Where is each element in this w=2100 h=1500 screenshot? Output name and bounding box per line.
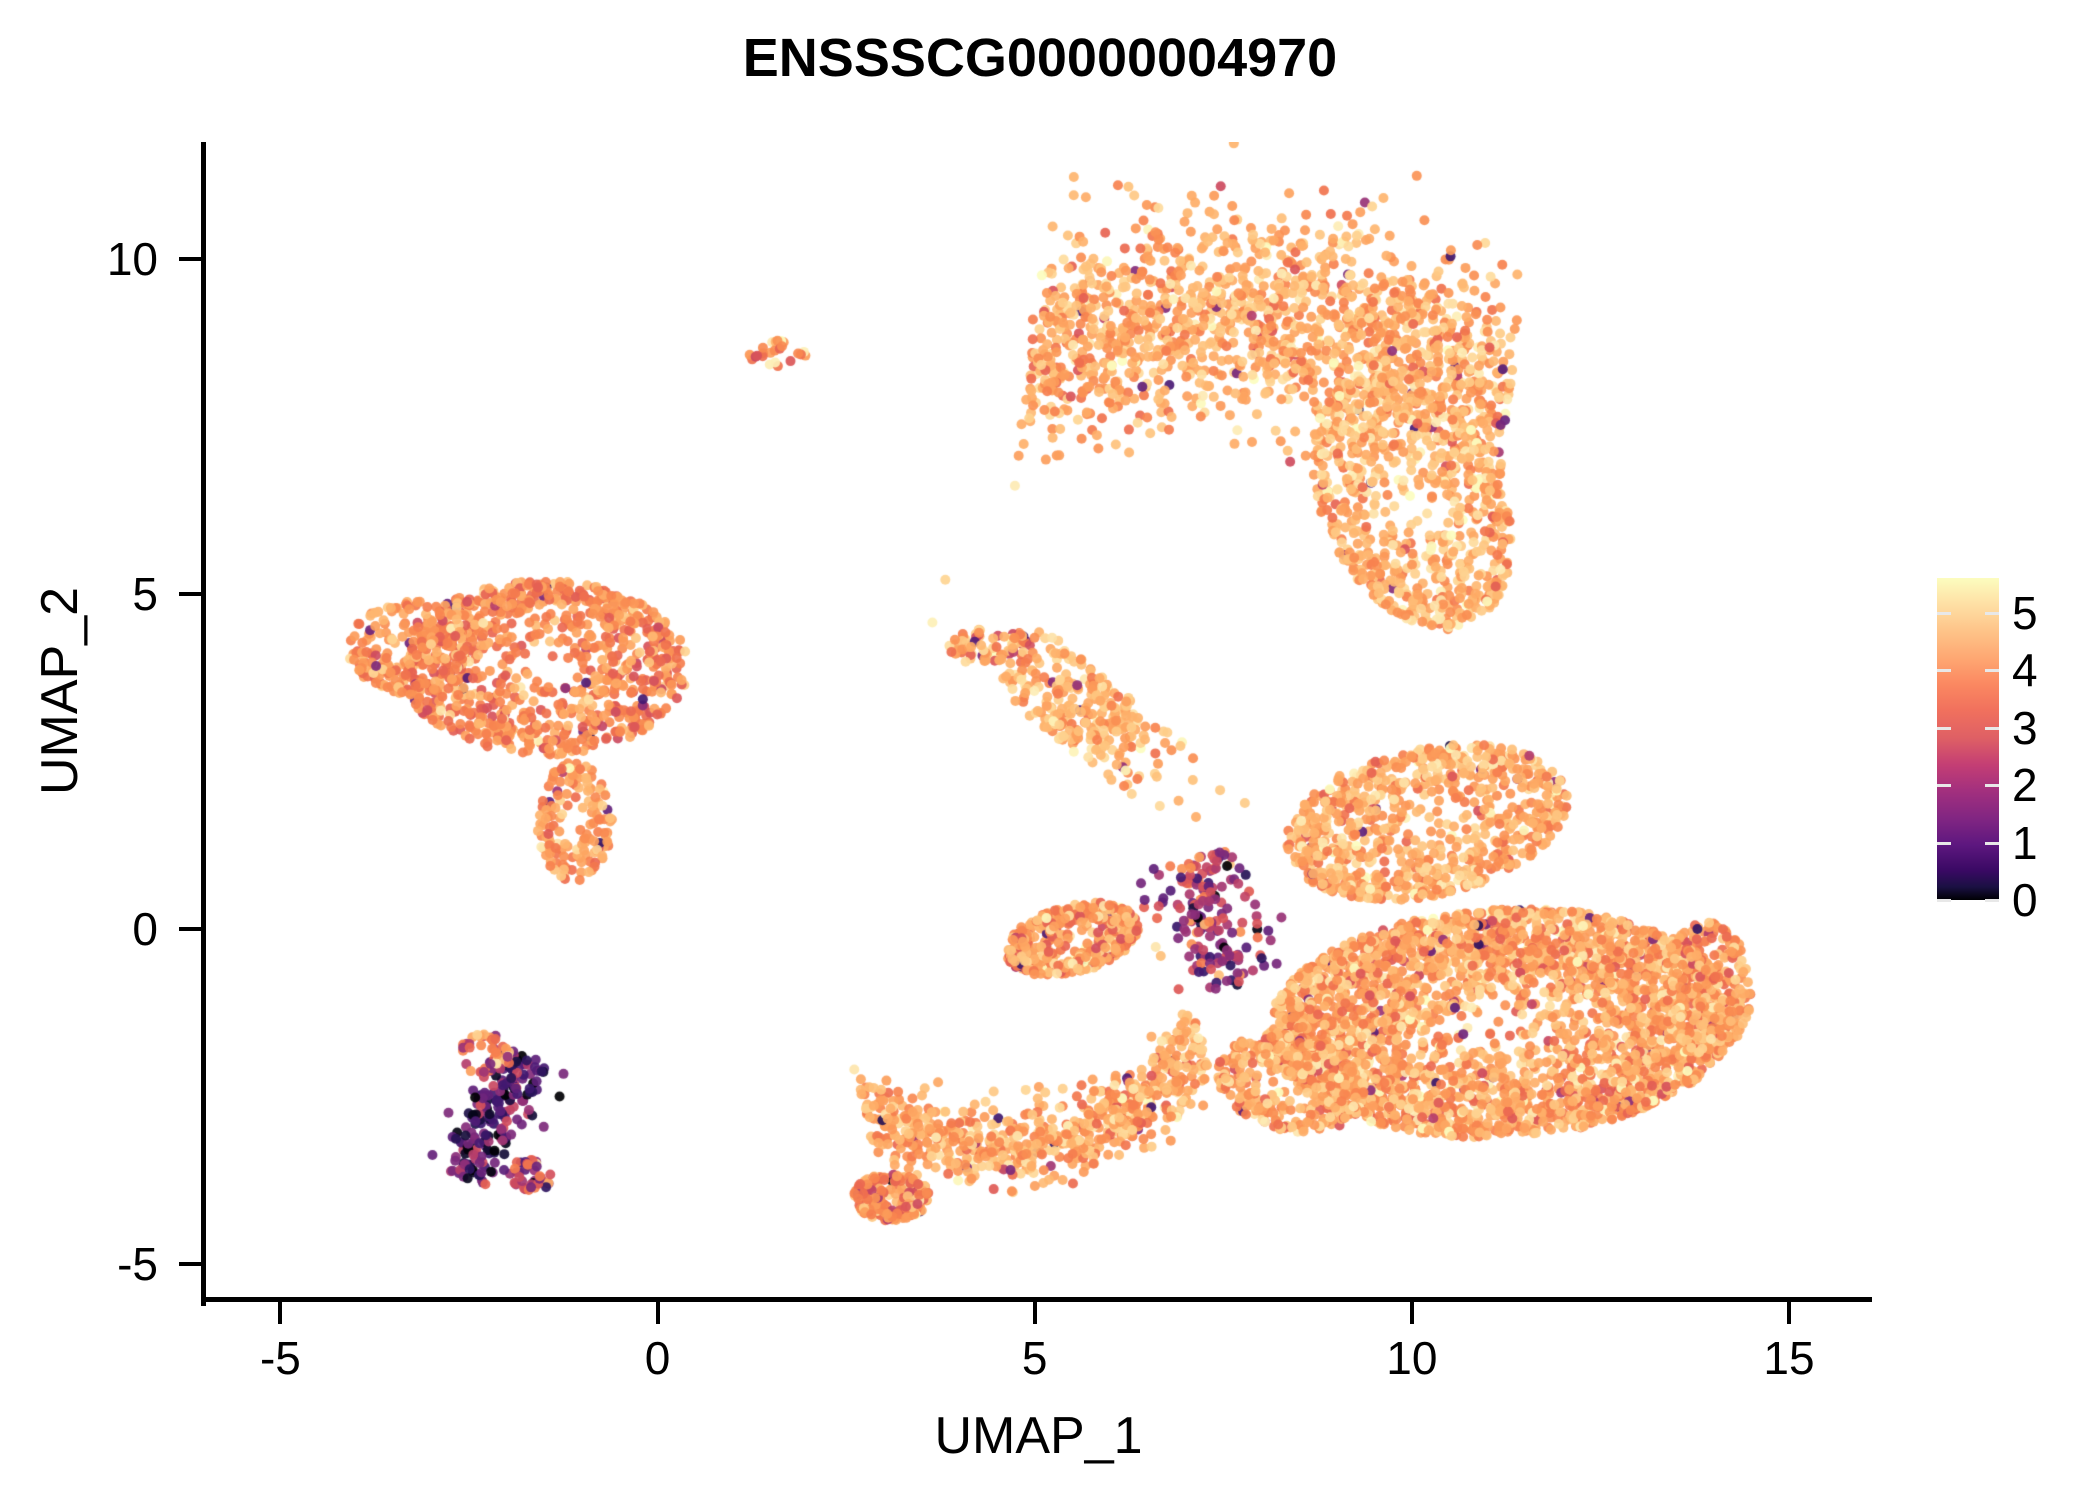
legend-colorbar [1937,578,1999,900]
legend-tick-label: 4 [2012,642,2082,698]
legend-tick-mark [1937,727,1999,730]
y-tick-mark [179,927,201,931]
legend-tick-mark [1937,669,1999,672]
y-tick-mark [179,592,201,596]
legend-tick-mark [1937,612,1999,615]
x-tick-mark [278,1302,282,1324]
x-tick-label: 10 [1332,1330,1492,1386]
legend-tick-mark [1937,899,1999,902]
x-tick-mark [1410,1302,1414,1324]
x-tick-mark [1033,1302,1037,1324]
legend-tick-label: 5 [2012,585,2082,641]
x-tick-label: 0 [578,1330,738,1386]
y-tick-mark [179,1262,201,1266]
feature-plot-figure: ENSSSCG00000004970 -5051015 1050-5 UMAP_… [0,0,2100,1500]
y-axis-title: UMAP_2 [29,111,91,1271]
page-title: ENSSSCG00000004970 [0,26,2080,90]
legend-tick-mark [1937,842,1999,845]
legend-tick-label: 3 [2012,700,2082,756]
legend-tick-label: 2 [2012,757,2082,813]
x-tick-mark [656,1302,660,1324]
x-axis-title: UMAP_1 [205,1405,1872,1467]
legend-tick-label: 1 [2012,815,2082,871]
color-legend[interactable]: 543210 [1930,575,2090,915]
y-tick-mark [179,257,201,261]
legend-tick-mark [1937,784,1999,787]
scatter-plot-panel[interactable] [205,142,1872,1301]
scatter-points-layer [205,142,1872,1301]
x-tick-label: 5 [955,1330,1115,1386]
x-tick-label: -5 [200,1330,360,1386]
x-tick-label: 15 [1709,1330,1869,1386]
y-axis-line [201,142,206,1306]
legend-tick-label: 0 [2012,872,2082,928]
x-tick-mark [1787,1302,1791,1324]
